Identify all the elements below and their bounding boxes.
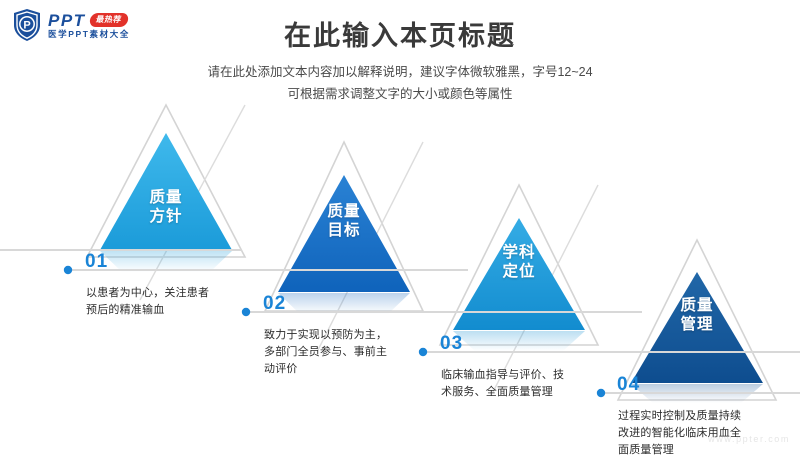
step-desc-1-line2: 预后的精准输血 [86, 302, 209, 319]
staircase-diagram: 质量 方针 质量 目标 学科 定位 质量 管理 01 02 03 04 以患者为… [0, 0, 800, 450]
rail-dot-1 [64, 266, 72, 274]
step-number-4: 04 [617, 375, 640, 394]
step-label-1-line1: 质量 [126, 188, 206, 207]
diagram-graphics [0, 0, 800, 450]
step-label-2: 质量 目标 [304, 202, 384, 241]
step-label-2-line2: 目标 [304, 221, 384, 240]
step-label-4-line2: 管理 [657, 315, 737, 334]
step-reflection-1 [100, 251, 232, 272]
step-desc-3-line1: 临床输血指导与评价、技 [441, 367, 564, 384]
step-desc-4-line1: 过程实时控制及质量持续 [618, 408, 741, 425]
step-desc-1: 以患者为中心，关注患者 预后的精准输血 [86, 285, 209, 319]
step-desc-1-line1: 以患者为中心，关注患者 [86, 285, 209, 302]
step-desc-2: 致力于实现以预防为主， 多部门全员参与、事前主 动评价 [264, 327, 387, 378]
step-number-3: 03 [440, 334, 463, 353]
step-number-2: 02 [263, 294, 286, 313]
step-label-1: 质量 方针 [126, 188, 206, 227]
rail-dot-3 [419, 348, 427, 356]
step-label-1-line2: 方针 [126, 207, 206, 226]
step-label-4-line1: 质量 [657, 296, 737, 315]
rail-dot-2 [242, 308, 250, 316]
rail-dot-4 [597, 389, 605, 397]
step-label-4: 质量 管理 [657, 296, 737, 335]
step-desc-4-line3: 面质量管理 [618, 442, 741, 459]
step-label-3-line1: 学科 [479, 243, 559, 262]
step-label-2-line1: 质量 [304, 202, 384, 221]
watermark: www.ppter.com [708, 434, 790, 444]
step-number-1: 01 [85, 252, 108, 271]
step-desc-3-line2: 术服务、全面质量管理 [441, 384, 564, 401]
step-label-3: 学科 定位 [479, 243, 559, 282]
step-desc-2-line3: 动评价 [264, 361, 387, 378]
step-desc-2-line2: 多部门全员参与、事前主 [264, 344, 387, 361]
step-label-3-line2: 定位 [479, 262, 559, 281]
step-desc-2-line1: 致力于实现以预防为主， [264, 327, 387, 344]
step-desc-3: 临床输血指导与评价、技 术服务、全面质量管理 [441, 367, 564, 401]
step-reflection-2 [278, 293, 410, 314]
slide-canvas: P PPT 最热荐 医学PPT素材大全 在此输入本页标题 请在此处添加文本内容加… [0, 0, 800, 450]
step-reflection-3 [453, 331, 585, 351]
